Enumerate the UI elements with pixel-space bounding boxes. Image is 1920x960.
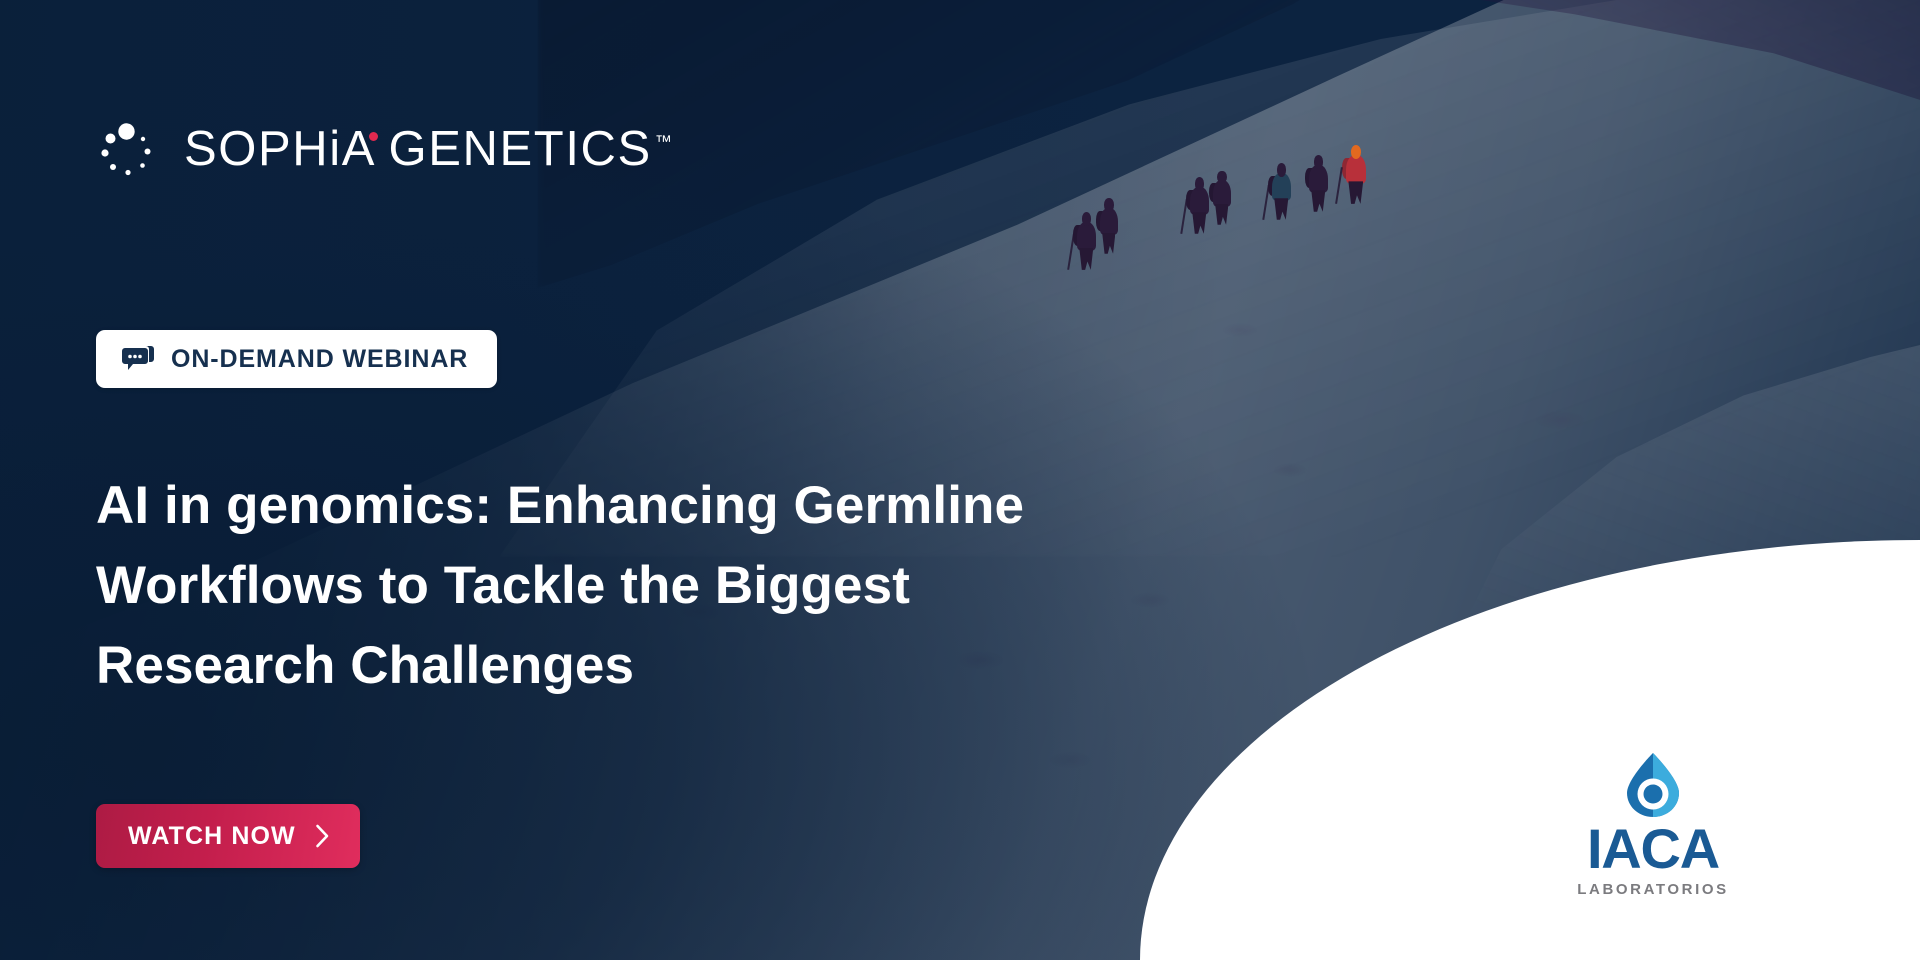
iaca-laboratorios-logo: IACA LABORATORIOS: [1568, 752, 1738, 897]
water-droplet-icon: [1622, 752, 1684, 818]
climber-silhouette: [1100, 208, 1118, 252]
headline-line-3: Research Challenges: [96, 626, 1106, 706]
iaca-name: IACA: [1568, 822, 1738, 877]
climber-silhouette: [1213, 180, 1231, 223]
page-title: AI in genomics: Enhancing Germline Workf…: [96, 466, 1106, 706]
sophia-dot-cluster-mark: [96, 118, 158, 180]
headline-line-1: AI in genomics: Enhancing Germline: [96, 466, 1106, 546]
webinar-type-badge: ON-DEMAND WEBINAR: [96, 330, 497, 388]
accent-dot-icon: [369, 132, 378, 141]
climber-silhouette: [1190, 187, 1209, 232]
speech-bubble-icon: [122, 346, 154, 372]
sophia-genetics-logo[interactable]: SOPHiA GENETICS™: [96, 118, 672, 180]
sophia-wordmark-group: SOPHiA GENETICS™: [184, 125, 672, 174]
webinar-badge-label: ON-DEMAND WEBINAR: [171, 347, 468, 372]
climber-silhouette: [1077, 222, 1096, 268]
chevron-right-icon: [315, 824, 330, 848]
climber-silhouette: [1272, 173, 1291, 218]
trademark-symbol: ™: [655, 132, 672, 151]
headline-line-2: Workflows to Tackle the Biggest: [96, 546, 1106, 626]
watch-now-label: WATCH NOW: [128, 824, 296, 849]
watch-now-button[interactable]: WATCH NOW: [96, 804, 360, 868]
iaca-tagline: LABORATORIOS: [1568, 882, 1738, 897]
climber-silhouette: [1309, 165, 1328, 210]
sophia-wordmark-text: SOPHiA GENETICS: [184, 122, 652, 176]
webinar-banner: SOPHiA GENETICS™ ON-DEMAND WEBINAR AI in…: [0, 0, 1920, 960]
climber-silhouette-lead: [1346, 155, 1366, 202]
